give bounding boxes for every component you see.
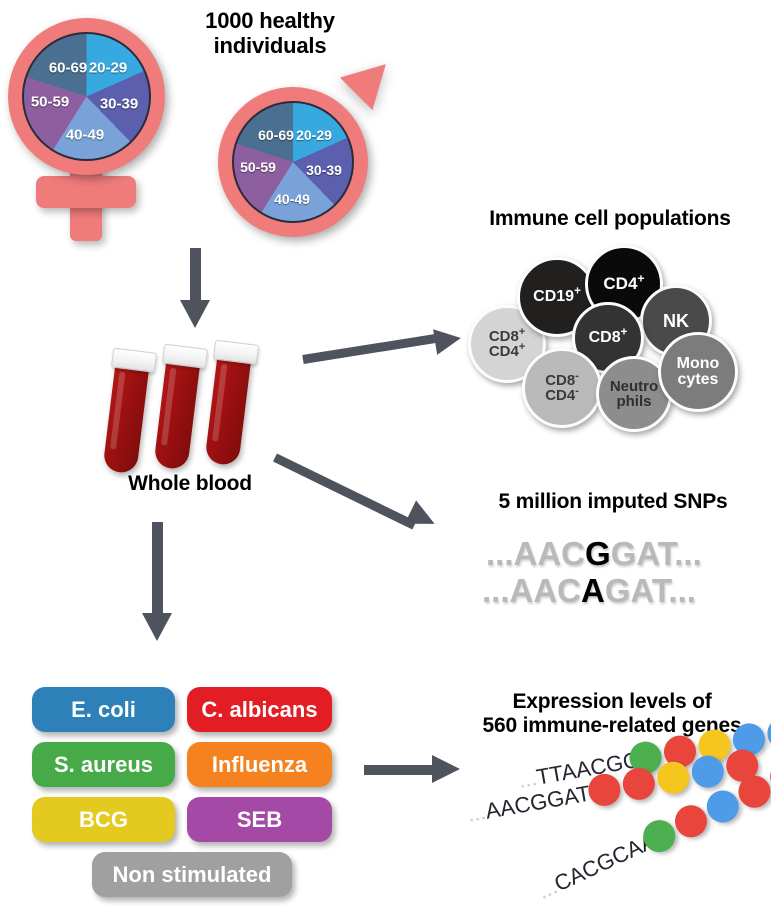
stimulus-bcg[interactable]: BCG <box>32 797 175 842</box>
stimulus-label: C. albicans <box>201 697 317 723</box>
female-symbol: 20-29 30-39 40-49 50-59 60-69 <box>8 18 188 243</box>
snp-suffix: ... <box>674 535 702 572</box>
snp-prefix: ... <box>482 572 510 609</box>
snp-left: AAC <box>514 535 586 572</box>
cell-label: CD8+ <box>589 330 628 346</box>
female-crossbar <box>36 176 136 208</box>
cell-label: CD19+ <box>533 289 581 305</box>
pie-label-30-39: 30-39 <box>306 162 342 178</box>
cell-cd8n-cd4n: CD8-CD4- <box>522 348 602 428</box>
female-age-pie: 20-29 30-39 40-49 50-59 60-69 <box>22 32 151 161</box>
whole-blood-label: Whole blood <box>80 472 300 496</box>
cohort-title: 1000 healthy individuals <box>165 8 375 59</box>
snps-title: 5 million imputed SNPs <box>455 490 771 514</box>
cell-label: NK <box>663 312 689 330</box>
stimulus-e-coli[interactable]: E. coli <box>32 687 175 732</box>
cell-label: CD8-CD4- <box>545 373 579 404</box>
snp-prefix: ... <box>486 535 514 572</box>
stimulus-label: Influenza <box>212 752 307 778</box>
stimulus-label: E. coli <box>71 697 136 723</box>
cell-monocytes: Monocytes <box>658 332 738 412</box>
pie-label-30-39: 30-39 <box>100 96 138 113</box>
stimulus-non-stimulated[interactable]: Non stimulated <box>92 852 292 897</box>
stimulus-c-albicans[interactable]: C. albicans <box>187 687 332 732</box>
snp-variant: G <box>585 535 611 572</box>
pie-label-60-69: 60-69 <box>49 60 87 77</box>
blood-tubes <box>110 345 290 475</box>
male-symbol: 20-29 30-39 40-49 50-59 60-69 <box>196 60 426 250</box>
immune-cell-cluster: CD8+CD4+ CD19+ CD4+ NK CD8+ CD8-CD4- Neu… <box>460 240 750 420</box>
snp-right: GAT <box>605 572 669 609</box>
stimulus-label: BCG <box>79 807 128 833</box>
stimulus-influenza[interactable]: Influenza <box>187 742 332 787</box>
pie-label-40-49: 40-49 <box>66 127 104 144</box>
pie-label-50-59: 50-59 <box>31 94 69 111</box>
snp-sequence-row: ...AACAGAT... <box>482 572 696 610</box>
stimulus-label: Non stimulated <box>113 862 272 888</box>
cell-label: CD8+CD4+ <box>489 329 525 360</box>
stimulus-s-aureus[interactable]: S. aureus <box>32 742 175 787</box>
strand-sequence: ...CACGCAA <box>534 828 660 905</box>
cell-label: CD4+ <box>603 275 644 292</box>
pie-label-40-49: 40-49 <box>274 191 310 207</box>
cell-label: Monocytes <box>677 356 720 389</box>
cell-label: Neutrophils <box>610 379 658 410</box>
stimulus-seb[interactable]: SEB <box>187 797 332 842</box>
pie-label-60-69: 60-69 <box>258 127 294 143</box>
pie-label-50-59: 50-59 <box>240 159 276 175</box>
snp-sequence-row: ...AACGGAT... <box>486 535 702 573</box>
snp-right: GAT <box>611 535 675 572</box>
snp-suffix: ... <box>668 572 696 609</box>
snp-left: AAC <box>510 572 582 609</box>
immune-title: Immune cell populations <box>450 207 770 231</box>
pie-label-20-29: 20-29 <box>89 60 127 77</box>
snp-variant: A <box>581 572 605 609</box>
male-age-pie: 20-29 30-39 40-49 50-59 60-69 <box>232 101 354 223</box>
stimulus-label: S. aureus <box>54 752 153 778</box>
stimulus-label: SEB <box>237 807 282 833</box>
pie-label-20-29: 20-29 <box>296 127 332 143</box>
